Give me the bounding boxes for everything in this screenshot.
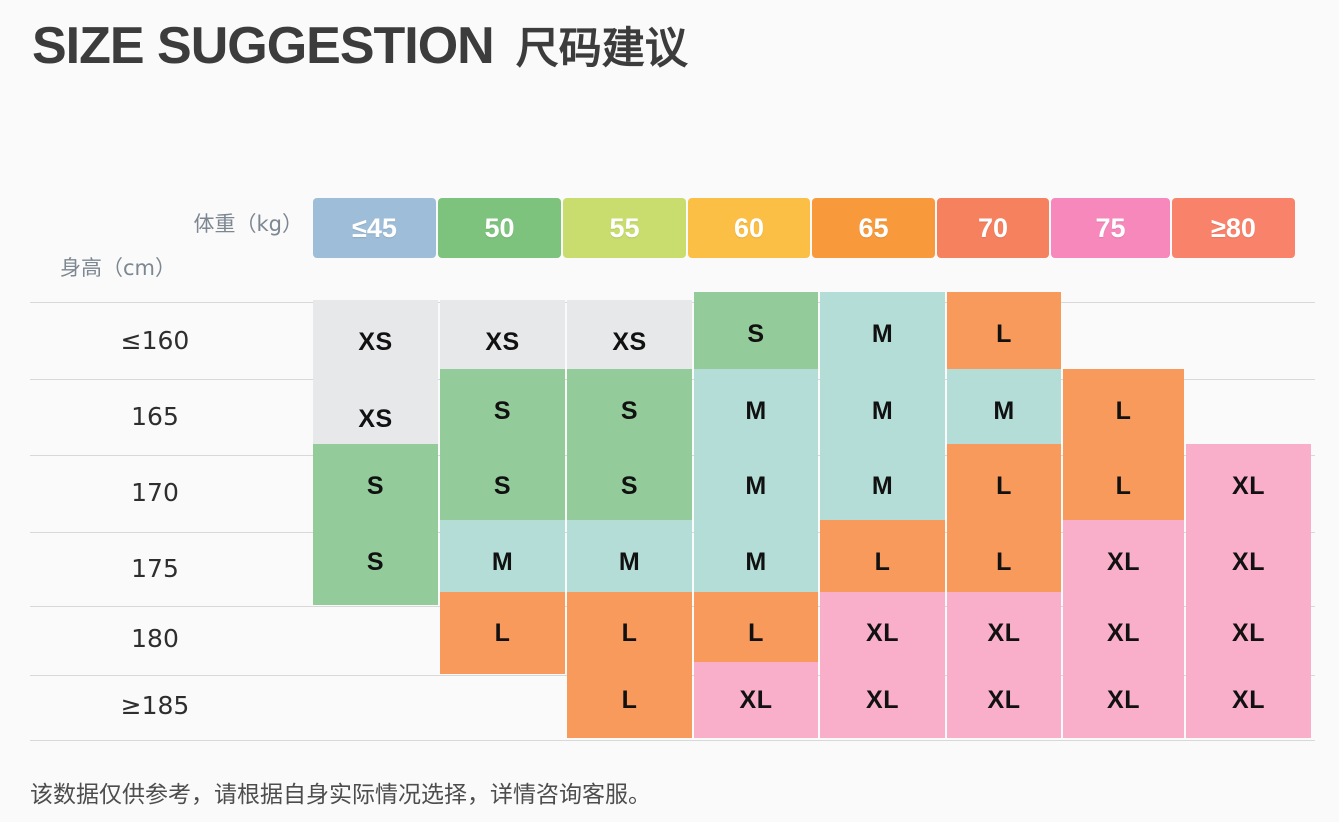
size-matrix: XSXSXSSMLXSSSMMMLSSSMMLLXLSMMMLLXLXLLLLX… xyxy=(0,300,1339,740)
weight-header-cell-2: 55 xyxy=(563,198,686,258)
size-cell-170-50: S xyxy=(440,444,565,529)
weight-header-row: ≤45505560657075≥80 xyxy=(313,198,1297,258)
height-row-label-2: 170 xyxy=(30,478,280,507)
height-axis-label: 身高（cm） xyxy=(60,252,176,282)
size-cell-165-75: L xyxy=(1063,369,1184,453)
size-cell-170-≤45: S xyxy=(313,444,438,529)
weight-header-cell-7: ≥80 xyxy=(1172,198,1295,258)
page-title: SIZE SUGGESTION 尺码建议 xyxy=(32,14,688,76)
height-row-label-4: 180 xyxy=(30,624,280,653)
weight-header-cell-5: 70 xyxy=(937,198,1049,258)
height-row-label-0: ≤160 xyxy=(30,326,280,355)
weight-header-cell-3: 60 xyxy=(688,198,810,258)
size-cell-170-60: M xyxy=(694,444,818,529)
height-row-label-5: ≥185 xyxy=(30,691,280,720)
size-cell-170-≥80: XL xyxy=(1186,444,1311,529)
size-cell-≤160-70: L xyxy=(947,292,1061,377)
row-separator-6 xyxy=(30,740,1315,741)
weight-header-cell-6: 75 xyxy=(1051,198,1170,258)
weight-header-cell-1: 50 xyxy=(438,198,561,258)
size-cell-≥185-55: L xyxy=(567,662,692,738)
size-cell-≤160-≤45: XS xyxy=(313,300,438,385)
size-cell-170-65: M xyxy=(820,444,945,529)
size-cell-170-75: L xyxy=(1063,444,1184,529)
size-cell-≤160-65: M xyxy=(820,292,945,377)
size-cell-165-50: S xyxy=(440,369,565,453)
size-cell-≤160-60: S xyxy=(694,292,818,377)
size-cell-170-70: L xyxy=(947,444,1061,529)
weight-header-cell-0: ≤45 xyxy=(313,198,436,258)
weight-header-cell-4: 65 xyxy=(812,198,935,258)
size-cell-170-55: S xyxy=(567,444,692,529)
size-cell-165-65: M xyxy=(820,369,945,453)
title-english: SIZE SUGGESTION xyxy=(32,16,494,76)
height-row-label-1: 165 xyxy=(30,402,280,431)
size-cell-≥185-65: XL xyxy=(820,662,945,738)
size-cell-165-55: S xyxy=(567,369,692,453)
title-chinese: 尺码建议 xyxy=(516,14,688,76)
size-cell-≥185-60: XL xyxy=(694,662,818,738)
size-cell-≥185-70: XL xyxy=(947,662,1061,738)
height-row-label-3: 175 xyxy=(30,554,280,583)
size-cell-165-70: M xyxy=(947,369,1061,453)
size-cell-≥185-75: XL xyxy=(1063,662,1184,738)
footer-note: 该数据仅供参考，请根据自身实际情况选择，详情咨询客服。 xyxy=(30,775,651,809)
weight-axis-label: 体重（kg） xyxy=(3,208,303,238)
size-cell-165-60: M xyxy=(694,369,818,453)
size-cell-180-50: L xyxy=(440,592,565,674)
size-cell-175-≤45: S xyxy=(313,520,438,605)
size-cell-≥185-≥80: XL xyxy=(1186,662,1311,738)
